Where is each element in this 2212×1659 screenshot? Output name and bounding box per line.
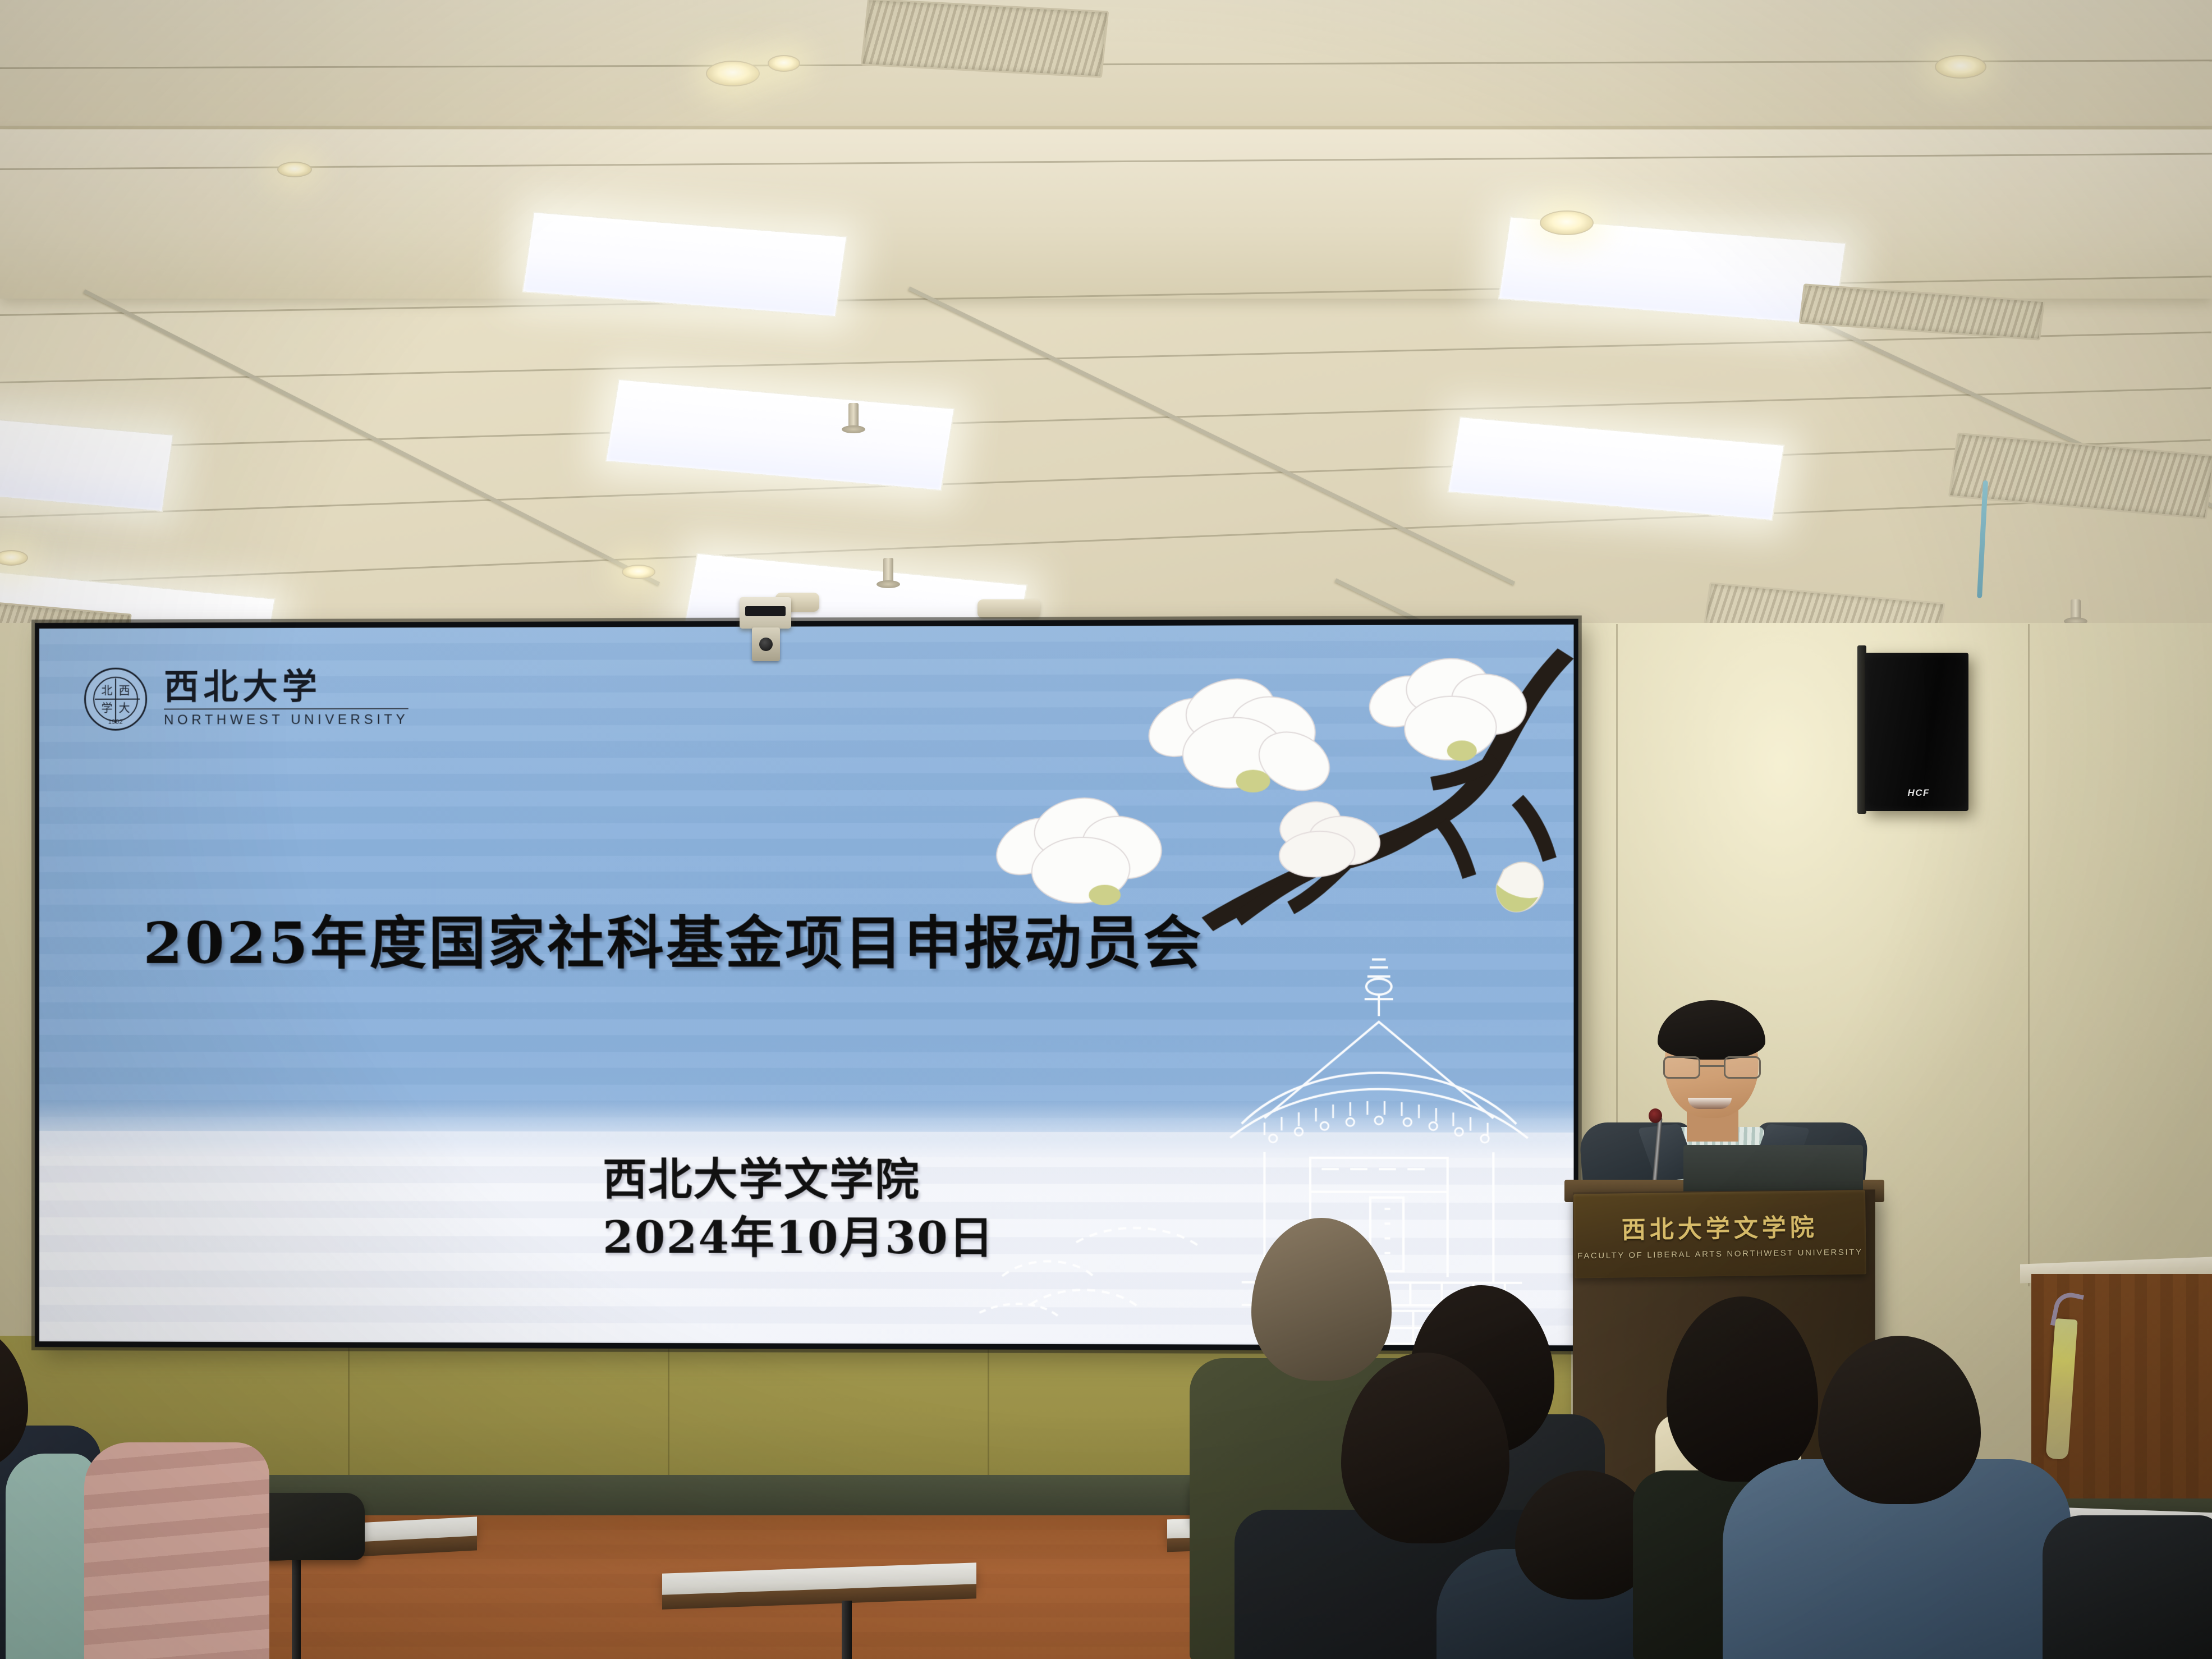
university-seal-icon: 北 西 学 大 1902 <box>84 668 147 731</box>
stage-wall-seam <box>668 1337 669 1481</box>
audience-left-pink <box>84 1420 297 1659</box>
laptop-on-podium <box>1683 1145 1863 1195</box>
seal-glyph: 北 <box>102 685 113 696</box>
audience-body <box>2043 1515 2212 1659</box>
ceiling <box>0 0 2212 651</box>
wordmark-chinese: 西北大学 <box>164 669 409 704</box>
slide-logo-lockup: 北 西 学 大 1902 西北大学 NORTHWEST UNIVERSITY <box>84 667 409 730</box>
stage-wall-seam <box>988 1337 989 1481</box>
slide-title: 2025年度国家社科基金项目申报动员会 <box>143 897 1204 980</box>
wall-seam <box>2028 624 2030 1286</box>
sprinkler-head <box>883 558 893 584</box>
ptz-camera-mount <box>740 597 791 629</box>
podium-sign-chinese: 西北大学文学院 <box>1621 1208 1818 1246</box>
seal-glyph: 西 <box>119 685 130 696</box>
seal-glyph: 学 <box>102 702 113 713</box>
slide-subtitle-org: 西北大学文学院 <box>603 1151 994 1210</box>
downlight <box>277 162 312 177</box>
presenter-hair <box>1658 1000 1765 1060</box>
university-wordmark: 西北大学 NORTHWEST UNIVERSITY <box>164 669 409 728</box>
podium-sign-english: FACULTY OF LIBERAL ARTS NORTHWEST UNIVER… <box>1577 1247 1863 1261</box>
audience-head <box>1818 1336 1981 1504</box>
presenter-mouth <box>1688 1098 1732 1109</box>
wall-speaker: HCF <box>1865 653 1968 811</box>
wordmark-rule <box>164 708 409 710</box>
photo-scene: HCF <box>0 0 2212 1659</box>
wordmark-english: NORTHWEST UNIVERSITY <box>164 712 409 728</box>
downlight <box>768 55 800 72</box>
audience-far-right <box>2043 1482 2212 1659</box>
microphone-icon <box>1649 1108 1662 1123</box>
slide-subtitle-date: 2024年10月30日 <box>603 1209 994 1268</box>
podium-nameplate: 西北大学文学院 FACULTY OF LIBERAL ARTS NORTHWES… <box>1573 1190 1866 1278</box>
stage-wall-seam <box>348 1337 350 1481</box>
audience-body <box>84 1442 269 1659</box>
sprinkler-head <box>2071 599 2081 621</box>
speaker-brand-label: HCF <box>1907 787 1929 799</box>
downlight <box>1540 210 1594 235</box>
sprinkler-head <box>848 403 859 429</box>
desk-leg <box>842 1601 852 1659</box>
slide-subtitle: 西北大学文学院 2024年10月30日 <box>603 1151 994 1268</box>
glasses-icon <box>1661 1056 1763 1080</box>
smoke-detector <box>977 599 1040 618</box>
seal-year: 1902 <box>86 719 145 726</box>
ptz-camera-icon <box>752 627 780 661</box>
downlight <box>1935 55 1986 79</box>
audience-sleeve <box>6 1454 95 1659</box>
audience-right-blue <box>1745 1347 2071 1659</box>
seal-glyph: 大 <box>119 702 130 713</box>
downlight <box>706 61 760 86</box>
downlight <box>622 565 655 579</box>
air-vent <box>861 0 1109 78</box>
